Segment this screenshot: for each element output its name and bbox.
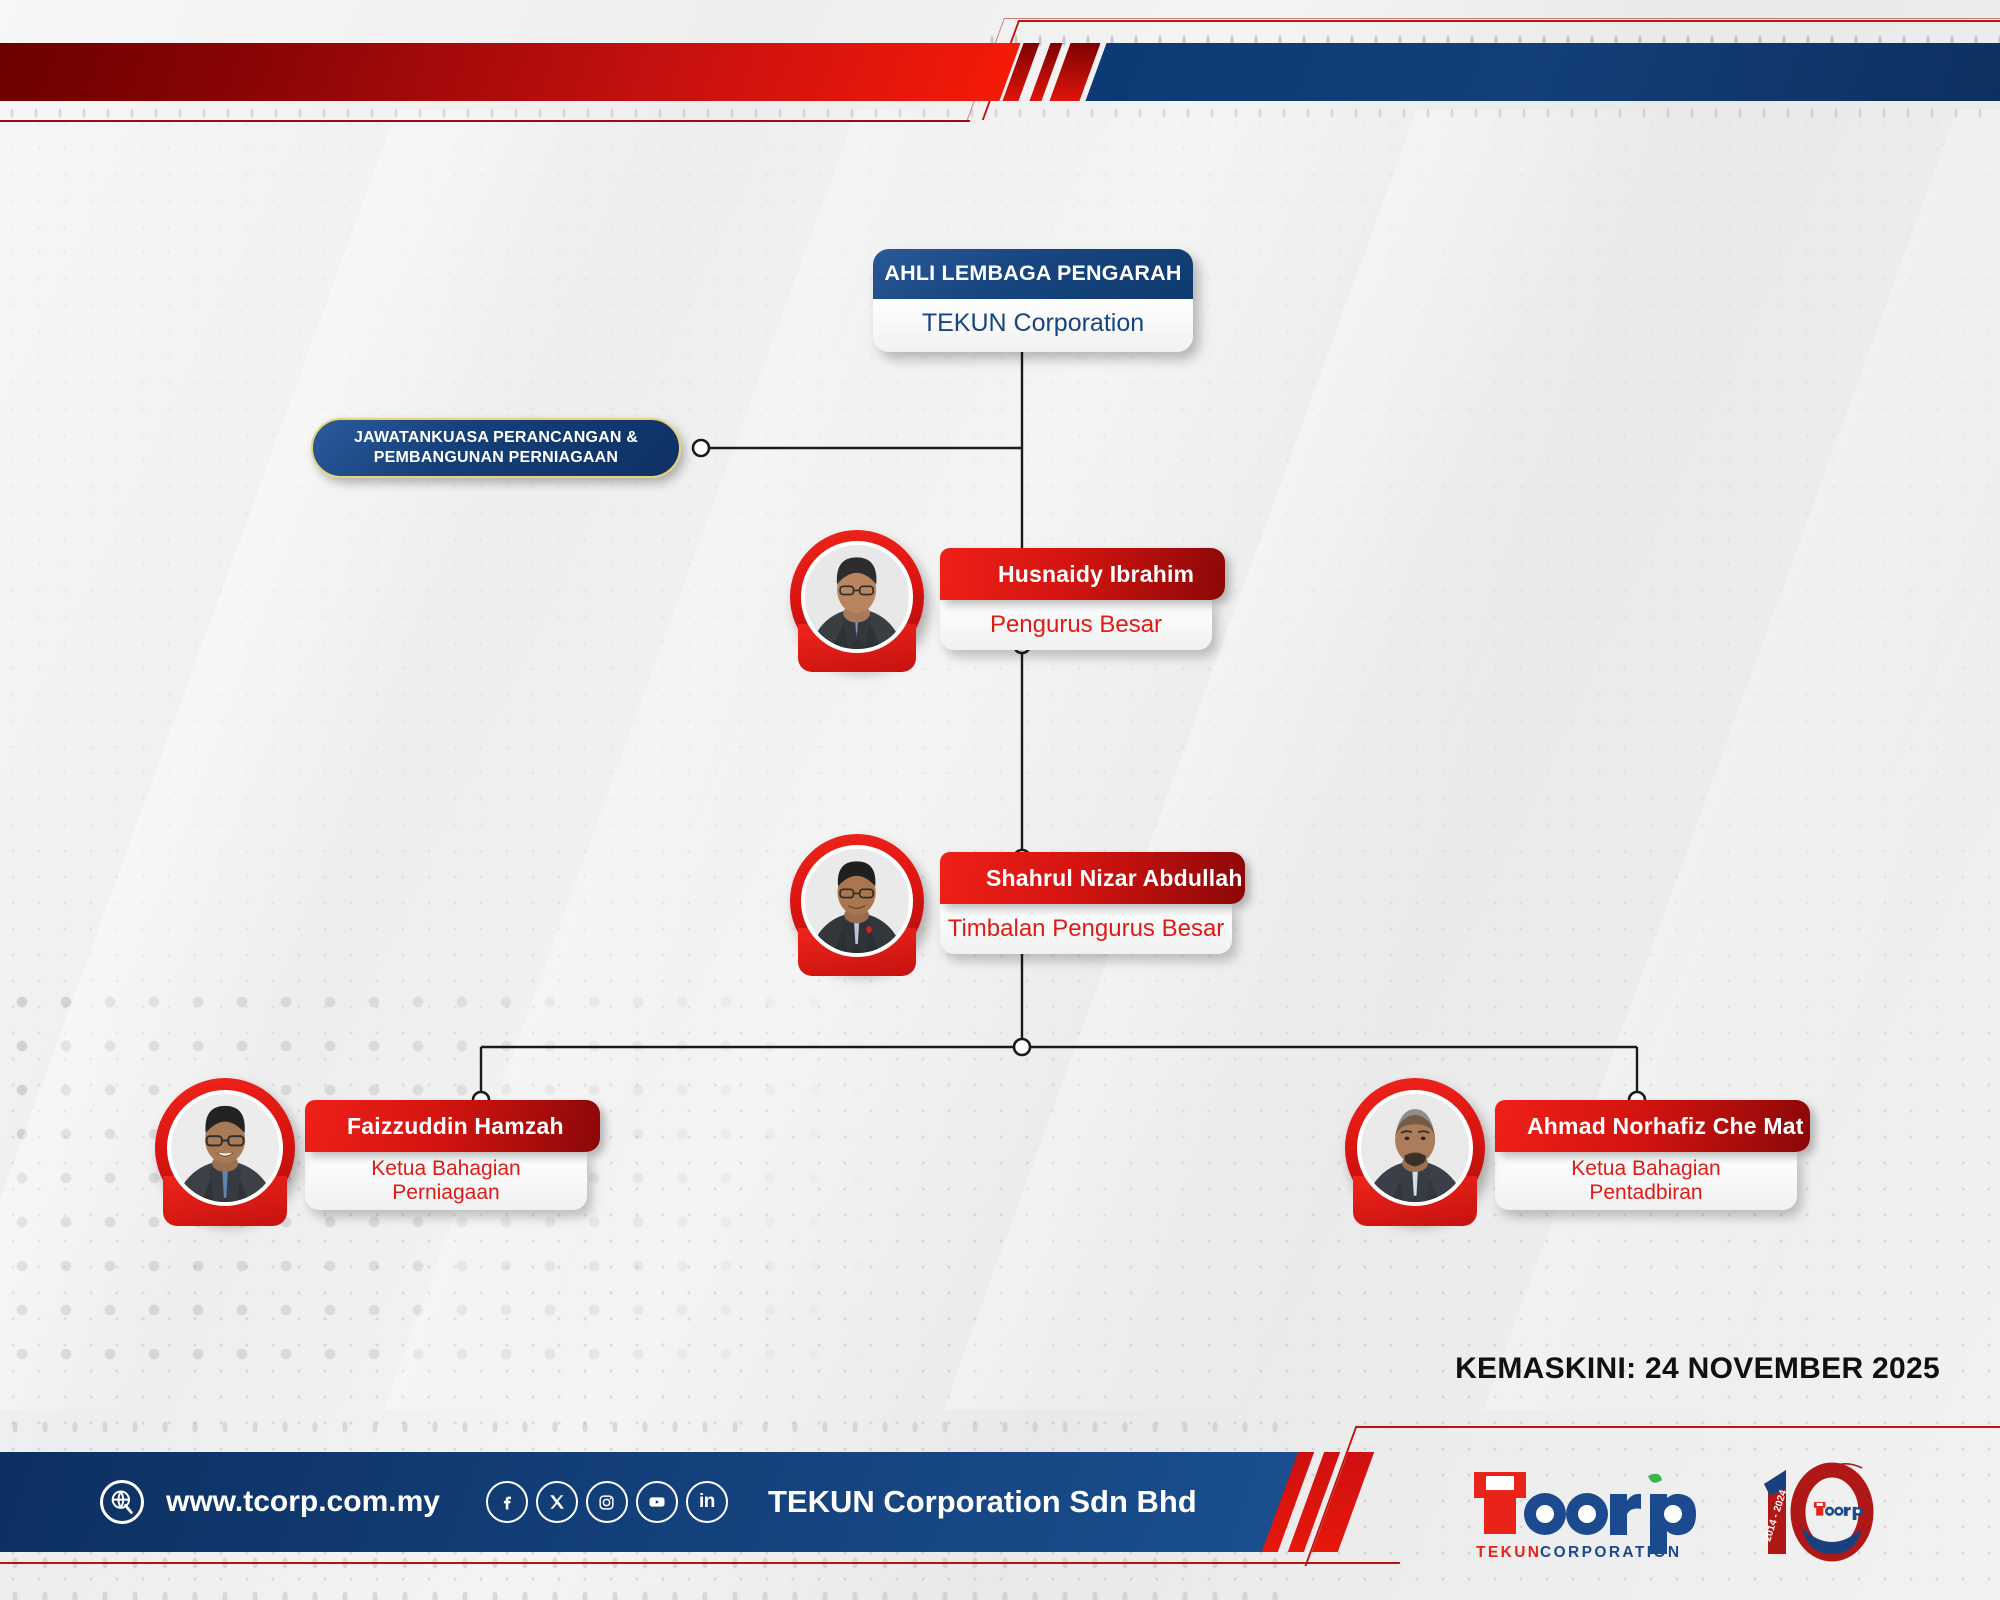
avatar-inner [1357, 1090, 1473, 1206]
person-name: Husnaidy Ibrahim [998, 561, 1194, 588]
avatar-faizzuddin-hamzah [155, 1078, 295, 1218]
tcorp-logo: TEKUN CORPORATION [1470, 1464, 1700, 1564]
tcorp-tagline-corporation: CORPORATION [1540, 1544, 1682, 1561]
portrait-illustration [805, 545, 908, 648]
avatar-husnaidy-ibrahim [790, 530, 924, 664]
node-planning-committee[interactable]: JAWATANKUASA PERANCANGAN & PEMBANGUNAN P… [311, 418, 681, 478]
board-subtitle: TEKUN Corporation [873, 299, 1193, 352]
person-name: Ahmad Norhafiz Che Mat [1527, 1113, 1804, 1140]
person-role-bar: Timbalan Pengurus Besar [940, 904, 1232, 954]
tcorp-tagline-tekun: TEKUN [1476, 1544, 1541, 1561]
top-banner-dash-row-2 [0, 103, 2000, 123]
globe-search-icon [100, 1480, 144, 1524]
last-updated-label: KEMASKINI: 24 NOVEMBER 2025 [1455, 1352, 1940, 1386]
x-twitter-icon[interactable] [536, 1481, 578, 1523]
person-name-bar: Ahmad Norhafiz Che Mat [1495, 1100, 1810, 1152]
bottom-banner: www.tcorp.com.my i [0, 1410, 2000, 1600]
person-role-line-1: Timbalan Pengurus Besar [948, 916, 1225, 943]
avatar-ahmad-norhafiz-che-mat [1345, 1078, 1485, 1218]
committee-line-2: PEMBANGUNAN PERNIAGAAN [374, 448, 618, 468]
avatar-inner [167, 1090, 283, 1206]
node-person-shahrul-nizar-abdullah[interactable]: Shahrul Nizar Abdullah Timbalan Pengurus… [790, 852, 1245, 957]
instagram-icon[interactable] [586, 1481, 628, 1523]
node-person-faizzuddin-hamzah[interactable]: Faizzuddin Hamzah Ketua Bahagian Perniag… [155, 1100, 600, 1215]
person-role-line-1: Ketua Bahagian [371, 1157, 520, 1181]
node-person-ahmad-norhafiz-che-mat[interactable]: Ahmad Norhafiz Che Mat Ketua Bahagian Pe… [1345, 1100, 1810, 1215]
portrait-illustration [171, 1094, 279, 1202]
node-board-of-directors[interactable]: AHLI LEMBAGA PENGARAH TEKUN Corporation [873, 249, 1193, 352]
avatar-shahrul-nizar-abdullah [790, 834, 924, 968]
person-role-bar: Pengurus Besar [940, 600, 1212, 650]
avatar-inner [801, 541, 912, 652]
linkedin-icon[interactable]: in [686, 1481, 728, 1523]
youtube-icon[interactable] [636, 1481, 678, 1523]
person-name-bar: Husnaidy Ibrahim [940, 548, 1225, 600]
person-role-line-1: Ketua Bahagian [1571, 1157, 1720, 1181]
person-role-line-2: Pentadbiran [1589, 1181, 1702, 1205]
person-role-bar: Ketua Bahagian Pentadbiran [1495, 1152, 1797, 1210]
node-person-husnaidy-ibrahim[interactable]: Husnaidy Ibrahim Pengurus Besar [790, 548, 1225, 653]
person-name: Shahrul Nizar Abdullah [986, 865, 1243, 892]
bottom-banner-bottom-line [0, 1562, 1400, 1564]
footer-website-link[interactable]: www.tcorp.com.my [166, 1485, 440, 1519]
portrait-illustration [1361, 1094, 1469, 1202]
footer-content: www.tcorp.com.my i [0, 1452, 1280, 1552]
social-links: in [486, 1481, 728, 1523]
person-role-line-1: Pengurus Besar [990, 612, 1162, 639]
portrait-illustration [805, 849, 908, 952]
person-name-bar: Shahrul Nizar Abdullah [940, 852, 1245, 904]
org-chart-page: AHLI LEMBAGA PENGARAH TEKUN Corporation … [0, 0, 2000, 1600]
avatar-inner [801, 845, 912, 956]
person-role-bar: Ketua Bahagian Perniagaan [305, 1152, 587, 1210]
anniversary-10-years-logo: 2014 - 2024 [1740, 1458, 1880, 1568]
person-role-line-2: Perniagaan [392, 1181, 499, 1205]
person-name: Faizzuddin Hamzah [347, 1113, 564, 1140]
facebook-icon[interactable] [486, 1481, 528, 1523]
board-title: AHLI LEMBAGA PENGARAH [873, 249, 1193, 299]
top-banner-red-band [0, 43, 1021, 101]
footer-organisation-name: TEKUN Corporation Sdn Bhd [768, 1484, 1197, 1520]
top-banner [0, 0, 2000, 135]
top-banner-blue-band [1085, 43, 2000, 101]
person-name-bar: Faizzuddin Hamzah [305, 1100, 600, 1152]
committee-line-1: JAWATANKUASA PERANCANGAN & [354, 428, 638, 448]
